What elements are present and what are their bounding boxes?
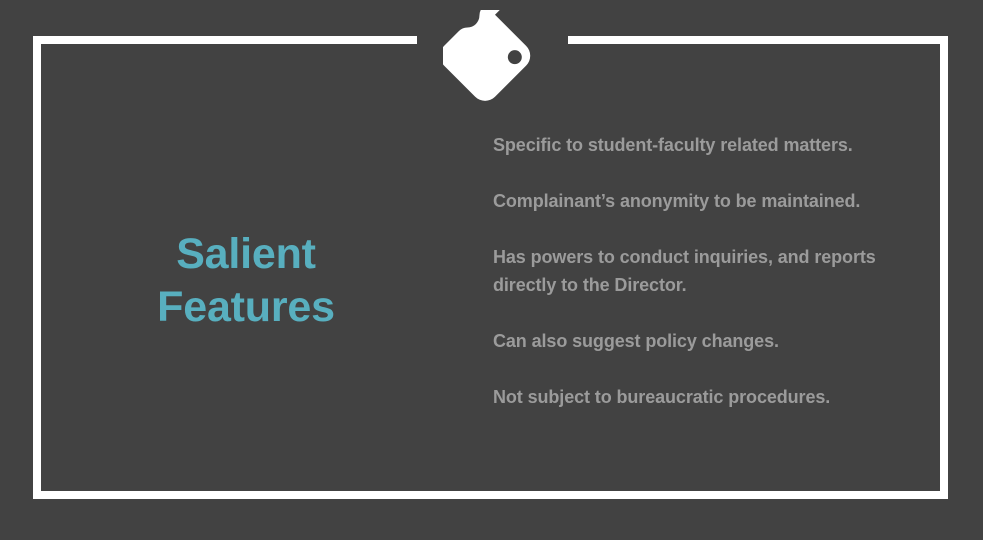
frame-border-bottom: [33, 491, 948, 499]
feature-list: Specific to student-faculty related matt…: [493, 131, 923, 411]
list-item: Can also suggest policy changes.: [493, 327, 923, 355]
page-title-line-2: Features: [60, 281, 432, 334]
frame-border-left: [33, 36, 41, 499]
page-title-line-1: Salient: [60, 228, 432, 281]
frame-border-top-right: [568, 36, 948, 44]
list-item: Not subject to bureaucratic procedures.: [493, 383, 923, 411]
list-item: Complainant’s anonymity to be maintained…: [493, 187, 923, 215]
page-title: Salient Features: [60, 228, 432, 334]
price-tag-icon: [443, 10, 547, 110]
list-item: Has powers to conduct inquiries, and rep…: [493, 243, 923, 299]
list-item: Specific to student-faculty related matt…: [493, 131, 923, 159]
frame-border-top-left: [33, 36, 417, 44]
slide: Salient Features Specific to student-fac…: [0, 0, 983, 540]
frame-border-right: [940, 36, 948, 499]
